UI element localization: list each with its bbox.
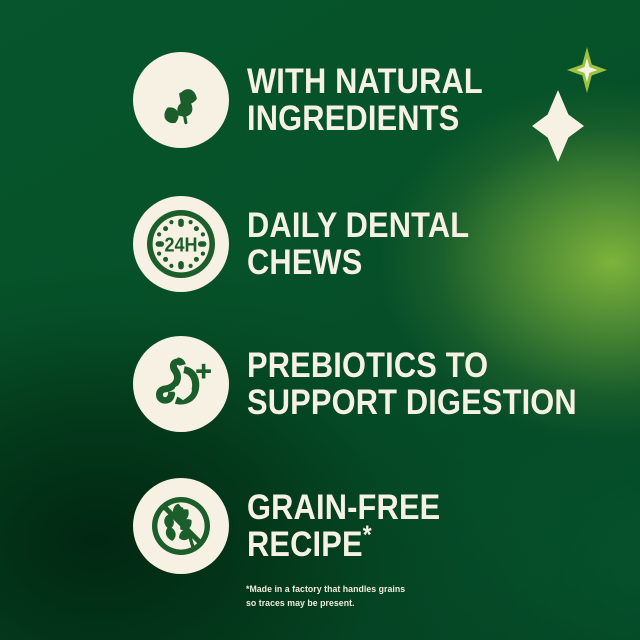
grain-free-wheat-icon	[133, 478, 229, 574]
feature-label: WITH NATURAL INGREDIENTS	[247, 63, 483, 137]
clock-icon-text: 24H	[164, 235, 197, 257]
clock-24h-icon: 24H	[133, 196, 229, 292]
stomach-heart-plus-icon	[133, 336, 229, 432]
footnote-text: *Made in a factory that handles grains s…	[246, 583, 405, 611]
feature-label: PREBIOTICS TO SUPPORT DIGESTION	[247, 347, 577, 421]
feature-label: GRAIN-FREE RECIPE*	[247, 489, 440, 563]
four-point-star-icon-small	[567, 47, 607, 93]
leaf-sprig-icon	[133, 52, 229, 148]
feature-item-prebiotics: PREBIOTICS TO SUPPORT DIGESTION	[133, 336, 622, 432]
feature-item-daily-dental-chews: 24H DAILY DENTAL CHEWS	[133, 196, 500, 292]
feature-label-text: GRAIN-FREE RECIPE	[247, 488, 440, 564]
footnote-marker: *	[363, 519, 372, 549]
feature-label: DAILY DENTAL CHEWS	[247, 207, 469, 281]
feature-item-natural-ingredients: WITH NATURAL INGREDIENTS	[133, 52, 515, 148]
four-point-star-icon-large	[532, 90, 584, 162]
promo-banner: WITH NATURAL INGREDIENTS	[0, 0, 640, 640]
feature-item-grain-free: GRAIN-FREE RECIPE*	[133, 478, 467, 574]
